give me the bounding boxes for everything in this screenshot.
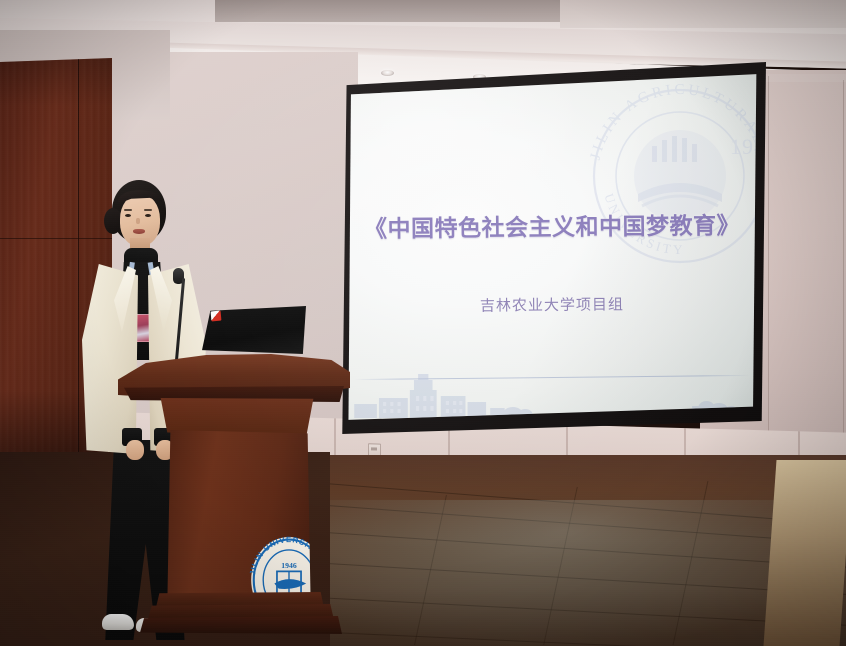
ceiling-recess-band-right (560, 0, 846, 28)
slide-title: 《中国特色社会主义和中国梦教育》 (346, 206, 758, 244)
presenter-eyebrow-right (144, 209, 152, 211)
presenter-eye-right (145, 214, 151, 217)
podium-neck (154, 398, 320, 434)
podium-body: JILIN UNIVERSITY · CHINA 1946 吉林大学 (166, 430, 312, 598)
presenter-eyebrow-left (124, 209, 132, 211)
jilin-agricultural-university-seal-watermark: JILIN AGRICULTURAL UNIVERSITY 1948 (580, 76, 758, 276)
laptop-sticker (211, 311, 222, 322)
presentation-photo-scene: JILIN AGRICULTURAL UNIVERSITY 1948 《中国特色… (0, 0, 846, 646)
lectern-podium: JILIN UNIVERSITY · CHINA 1946 吉林大学 (118, 352, 350, 646)
presenter-eye-left (125, 214, 131, 217)
floor-edge-strip-right (763, 460, 846, 646)
floor-reflection (281, 500, 846, 646)
wall-seam (843, 80, 844, 458)
projection-screen: JILIN AGRICULTURAL UNIVERSITY 1948 《中国特色… (338, 62, 766, 434)
svg-text:1948: 1948 (730, 134, 758, 159)
presenter-nose (136, 218, 140, 224)
svg-text:1946: 1946 (281, 561, 297, 570)
wall-seam (768, 76, 769, 458)
presenter-mouth (133, 229, 145, 234)
podium-base-tier-3 (140, 616, 342, 634)
slide-subtitle: 吉林农业大学项目组 (346, 292, 758, 317)
projection-screen-surface: JILIN AGRICULTURAL UNIVERSITY 1948 《中国特色… (346, 72, 758, 422)
